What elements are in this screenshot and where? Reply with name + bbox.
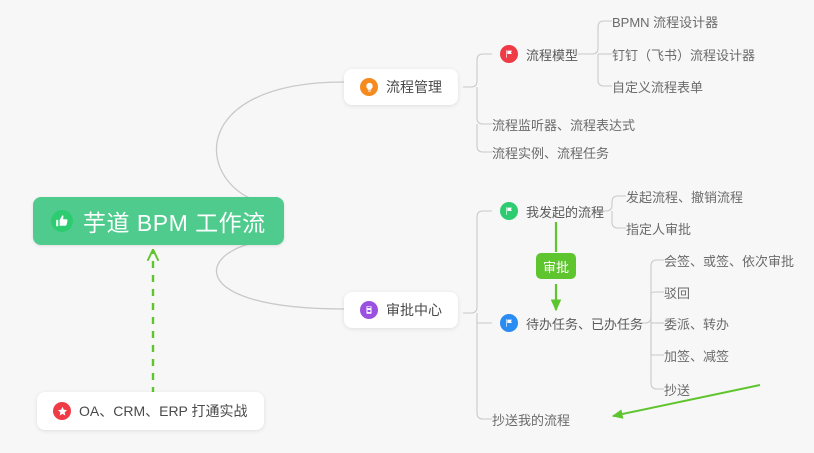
node-start-cancel-process-label: 发起流程、撤销流程 [626,187,743,206]
node-dingtalk-designer[interactable]: 钉钉（飞书）流程设计器 [604,41,763,67]
node-cc[interactable]: 抄送 [656,376,698,402]
node-delegate-transfer[interactable]: 委派、转办 [656,310,737,336]
node-custom-form-label: 自定义流程表单 [612,77,703,96]
node-process-model-label: 流程模型 [526,45,578,64]
node-add-remove-sign[interactable]: 加签、减签 [656,342,737,368]
node-assigned-approver[interactable]: 指定人审批 [618,215,699,241]
branch-process-management[interactable]: 流程管理 [344,69,458,105]
mindmap-canvas: 芋道 BPM 工作流 OA、CRM、ERP 打通实战 流程管理 流程模型 BPM… [0,0,814,453]
branch-approval-center[interactable]: 审批中心 [344,292,458,328]
edge-approval-center-bus-3 [477,323,492,419]
branch-approval-center-label: 审批中心 [386,300,442,320]
node-my-initiated[interactable]: 我发起的流程 [492,198,612,224]
edge-approval-center-bus-1 [463,211,492,313]
node-reject[interactable]: 驳回 [656,279,698,305]
bottom-note-label: OA、CRM、ERP 打通实战 [79,401,248,421]
root-label: 芋道 BPM 工作流 [83,204,266,238]
node-bpmn-designer[interactable]: BPMN 流程设计器 [604,8,726,34]
node-todo-done-tasks[interactable]: 待办任务、已办任务 [492,310,651,336]
flag-red-icon [500,45,518,63]
node-process-instance[interactable]: 流程实例、流程任务 [484,139,617,165]
annotation-approval: 审批 [536,253,576,279]
node-reject-label: 驳回 [664,283,690,302]
flag-green-icon [500,202,518,220]
branch-process-management-label: 流程管理 [386,77,442,97]
edge-root-to-approval-center [216,240,344,309]
node-cc-to-me[interactable]: 抄送我的流程 [484,406,578,432]
annotation-approval-label: 审批 [543,257,569,276]
bottom-note-node[interactable]: OA、CRM、ERP 打通实战 [37,392,264,430]
thumbs-up-icon [51,210,73,232]
node-start-cancel-process[interactable]: 发起流程、撤销流程 [618,183,751,209]
node-delegate-transfer-label: 委派、转办 [664,314,729,333]
node-bpmn-designer-label: BPMN 流程设计器 [612,12,718,31]
root-node[interactable]: 芋道 BPM 工作流 [33,197,284,245]
edge-root-to-process-management [216,82,344,205]
node-process-listener-label: 流程监听器、流程表达式 [492,115,635,134]
node-add-remove-sign-label: 加签、减签 [664,346,729,365]
edge-approval-center-bus-2 [477,313,492,323]
node-countersign[interactable]: 会签、或签、依次审批 [656,247,802,273]
flag-blue-icon [500,314,518,332]
star-icon [53,402,71,420]
node-todo-done-tasks-label: 待办任务、已办任务 [526,314,643,333]
node-process-model[interactable]: 流程模型 [492,41,586,67]
clipboard-icon [360,301,378,319]
node-custom-form[interactable]: 自定义流程表单 [604,73,711,99]
node-countersign-label: 会签、或签、依次审批 [664,251,794,270]
lightbulb-icon [360,78,378,96]
node-process-instance-label: 流程实例、流程任务 [492,143,609,162]
node-process-listener[interactable]: 流程监听器、流程表达式 [484,111,643,137]
node-my-initiated-label: 我发起的流程 [526,202,604,221]
node-assigned-approver-label: 指定人审批 [626,219,691,238]
node-cc-label: 抄送 [664,380,690,399]
edge-process-management-bus [463,54,492,87]
node-dingtalk-designer-label: 钉钉（飞书）流程设计器 [612,45,755,64]
node-cc-to-me-label: 抄送我的流程 [492,410,570,429]
